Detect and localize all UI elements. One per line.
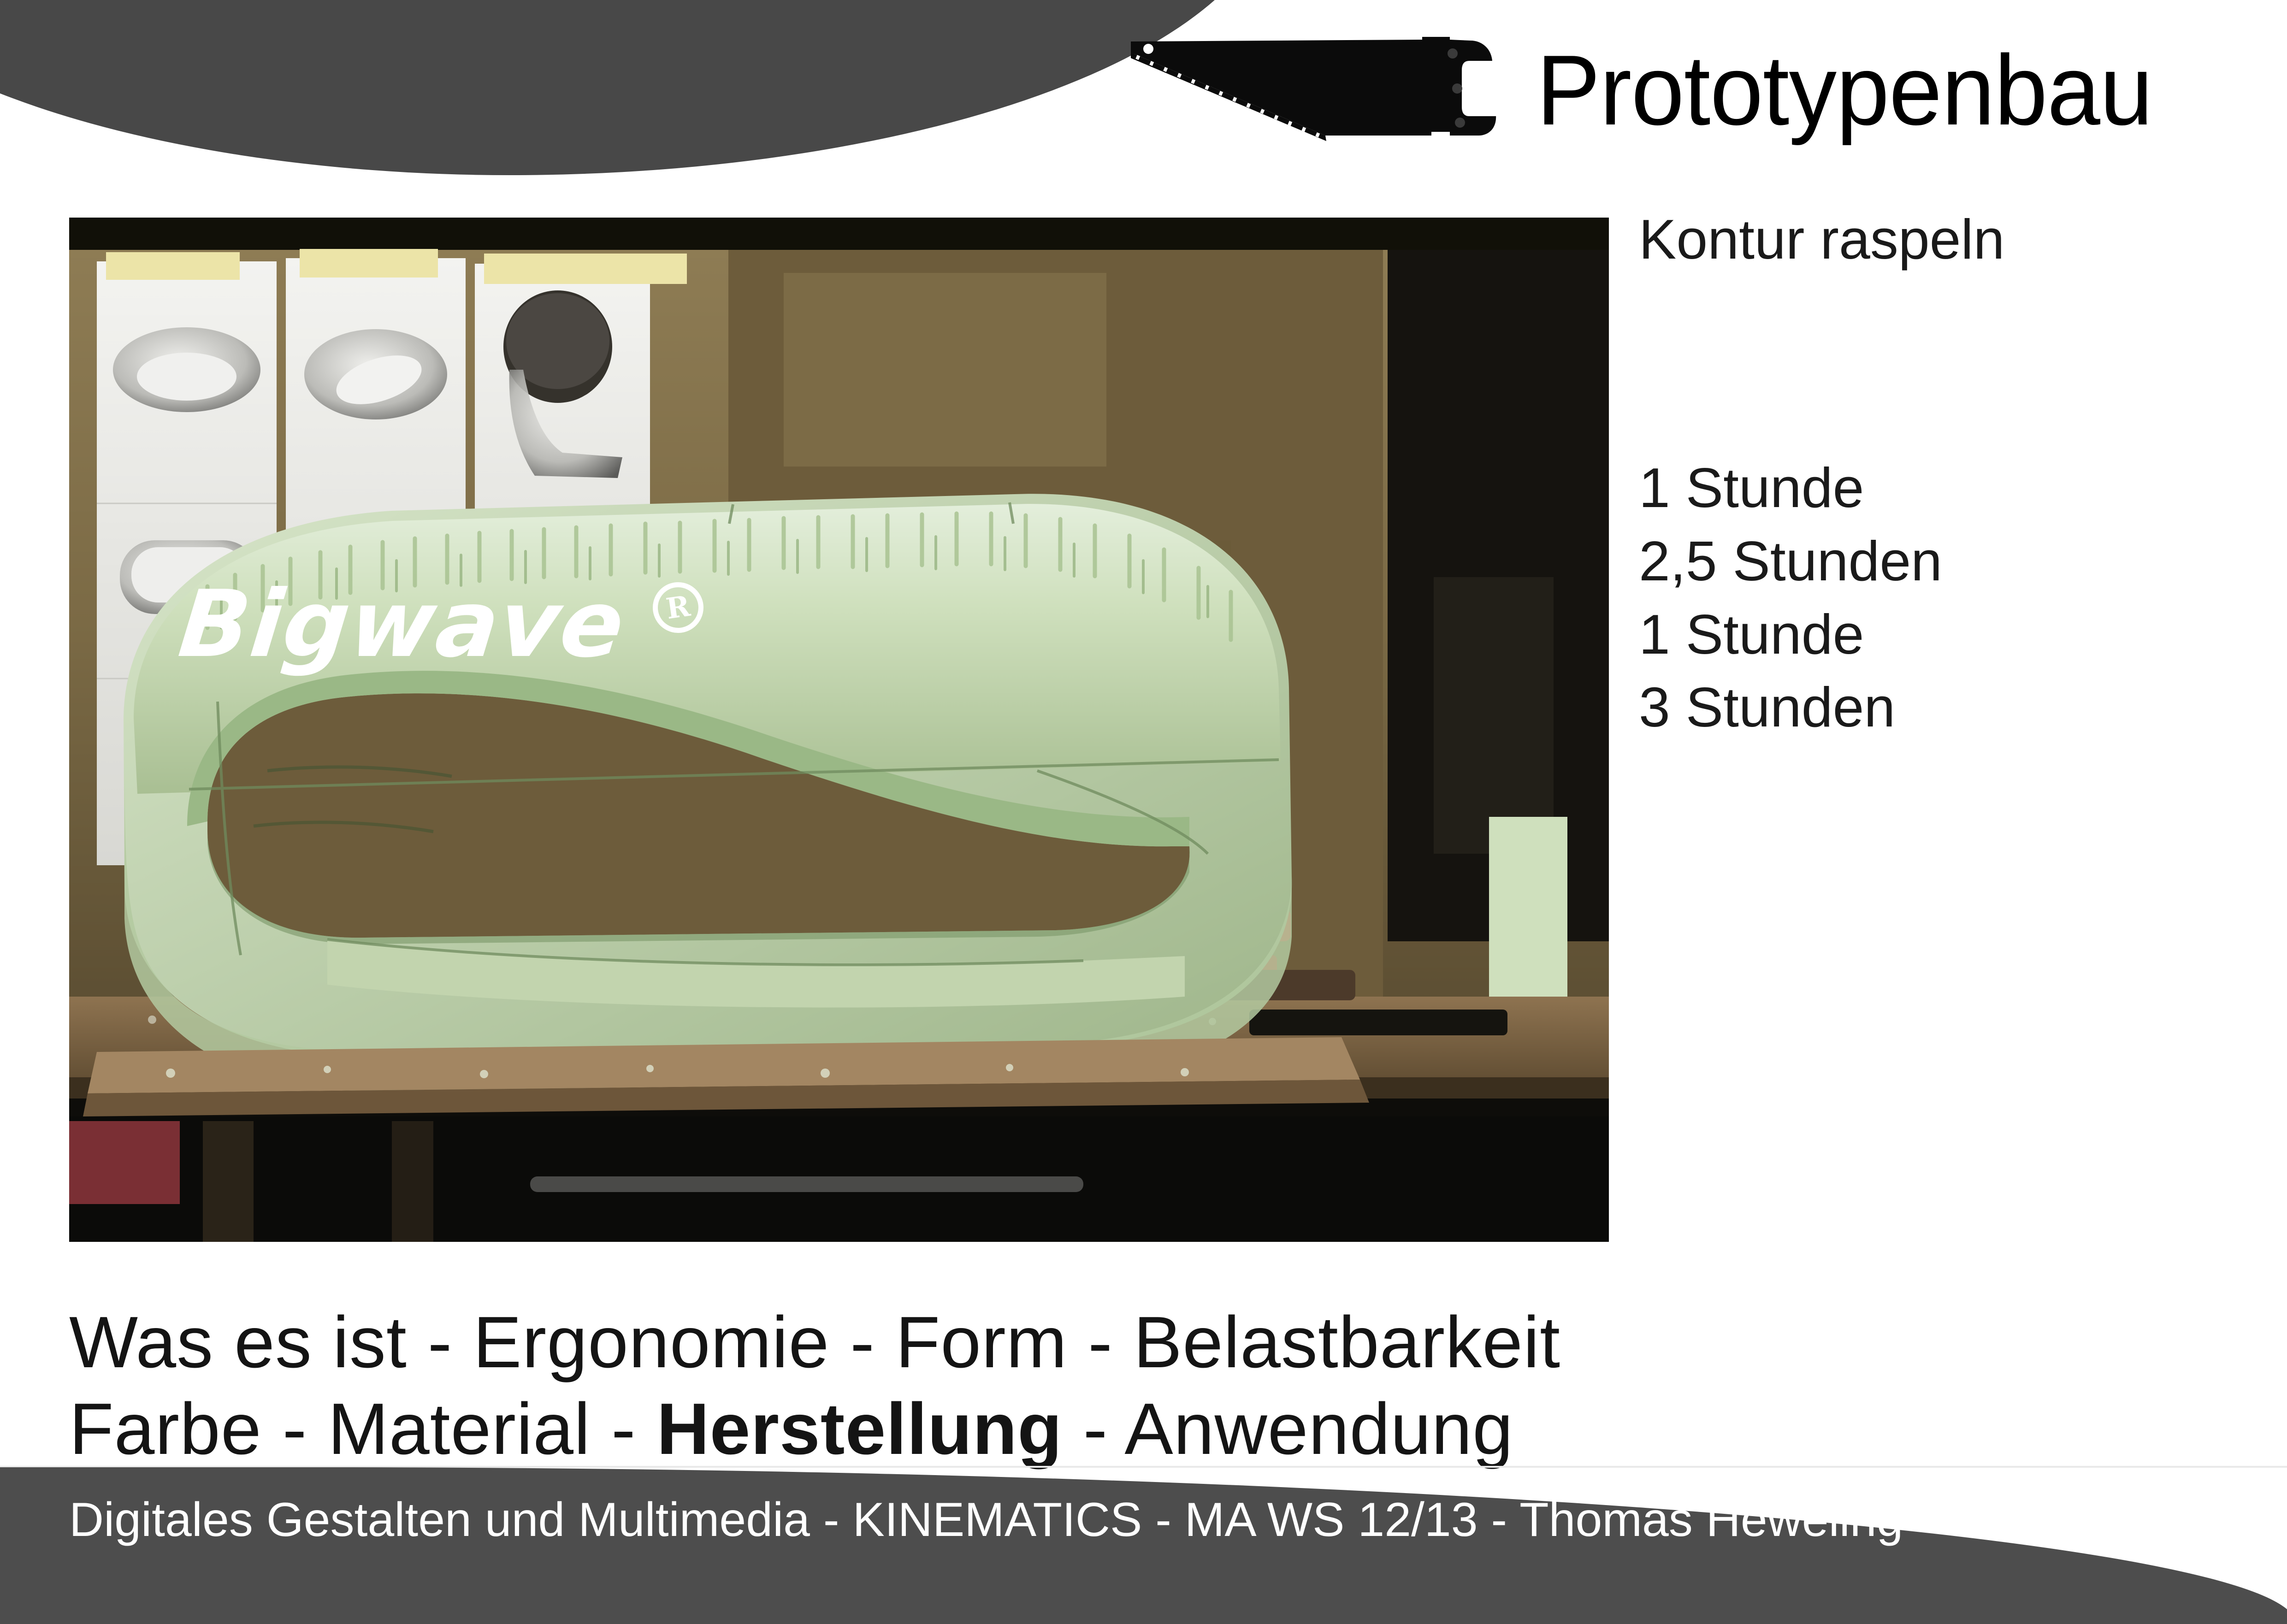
nav-line2-pre[interactable]: Farbe - Material - xyxy=(69,1388,657,1470)
duration-item: 2,5 Stunden xyxy=(1639,525,2261,598)
section-nav-line-1[interactable]: Was es ist - Ergonomie - Form - Belastba… xyxy=(69,1299,2190,1386)
registered-trademark-icon: R xyxy=(650,579,707,636)
section-nav-line-2[interactable]: Farbe - Material - Herstellung - Anwendu… xyxy=(69,1386,2190,1472)
nav-active-item-herstellung[interactable]: Herstellung xyxy=(657,1388,1063,1470)
sidebar: Kontur raspeln 1 Stunde 2,5 Stunden 1 St… xyxy=(1639,210,2261,744)
slide-title-row: Prototypenbau xyxy=(1127,37,2178,143)
page-title: Prototypenbau xyxy=(1536,40,2152,140)
duration-list: 1 Stunde 2,5 Stunden 1 Stunde 3 Stunden xyxy=(1639,451,2261,744)
prototype-photo xyxy=(69,218,1609,1242)
sidebar-heading: Kontur raspeln xyxy=(1639,210,2261,269)
brand-logo: Bigwave R xyxy=(180,579,703,671)
duration-item: 1 Stunde xyxy=(1639,598,2261,671)
duration-item: 3 Stunden xyxy=(1639,671,2261,744)
header-banner xyxy=(0,0,1277,175)
footer-bar: Digitales Gestalten und Multimedia - KIN… xyxy=(0,1467,2287,1624)
photo-content xyxy=(69,218,1609,1242)
nav-line2-post[interactable]: - Anwendung xyxy=(1063,1388,1513,1470)
duration-item: 1 Stunde xyxy=(1639,451,2261,525)
brand-logo-text: Bigwave xyxy=(175,579,629,671)
handsaw-icon xyxy=(1127,37,1519,143)
section-nav: Was es ist - Ergonomie - Form - Belastba… xyxy=(69,1299,2190,1472)
footer-text: Digitales Gestalten und Multimedia - KIN… xyxy=(69,1496,1903,1544)
